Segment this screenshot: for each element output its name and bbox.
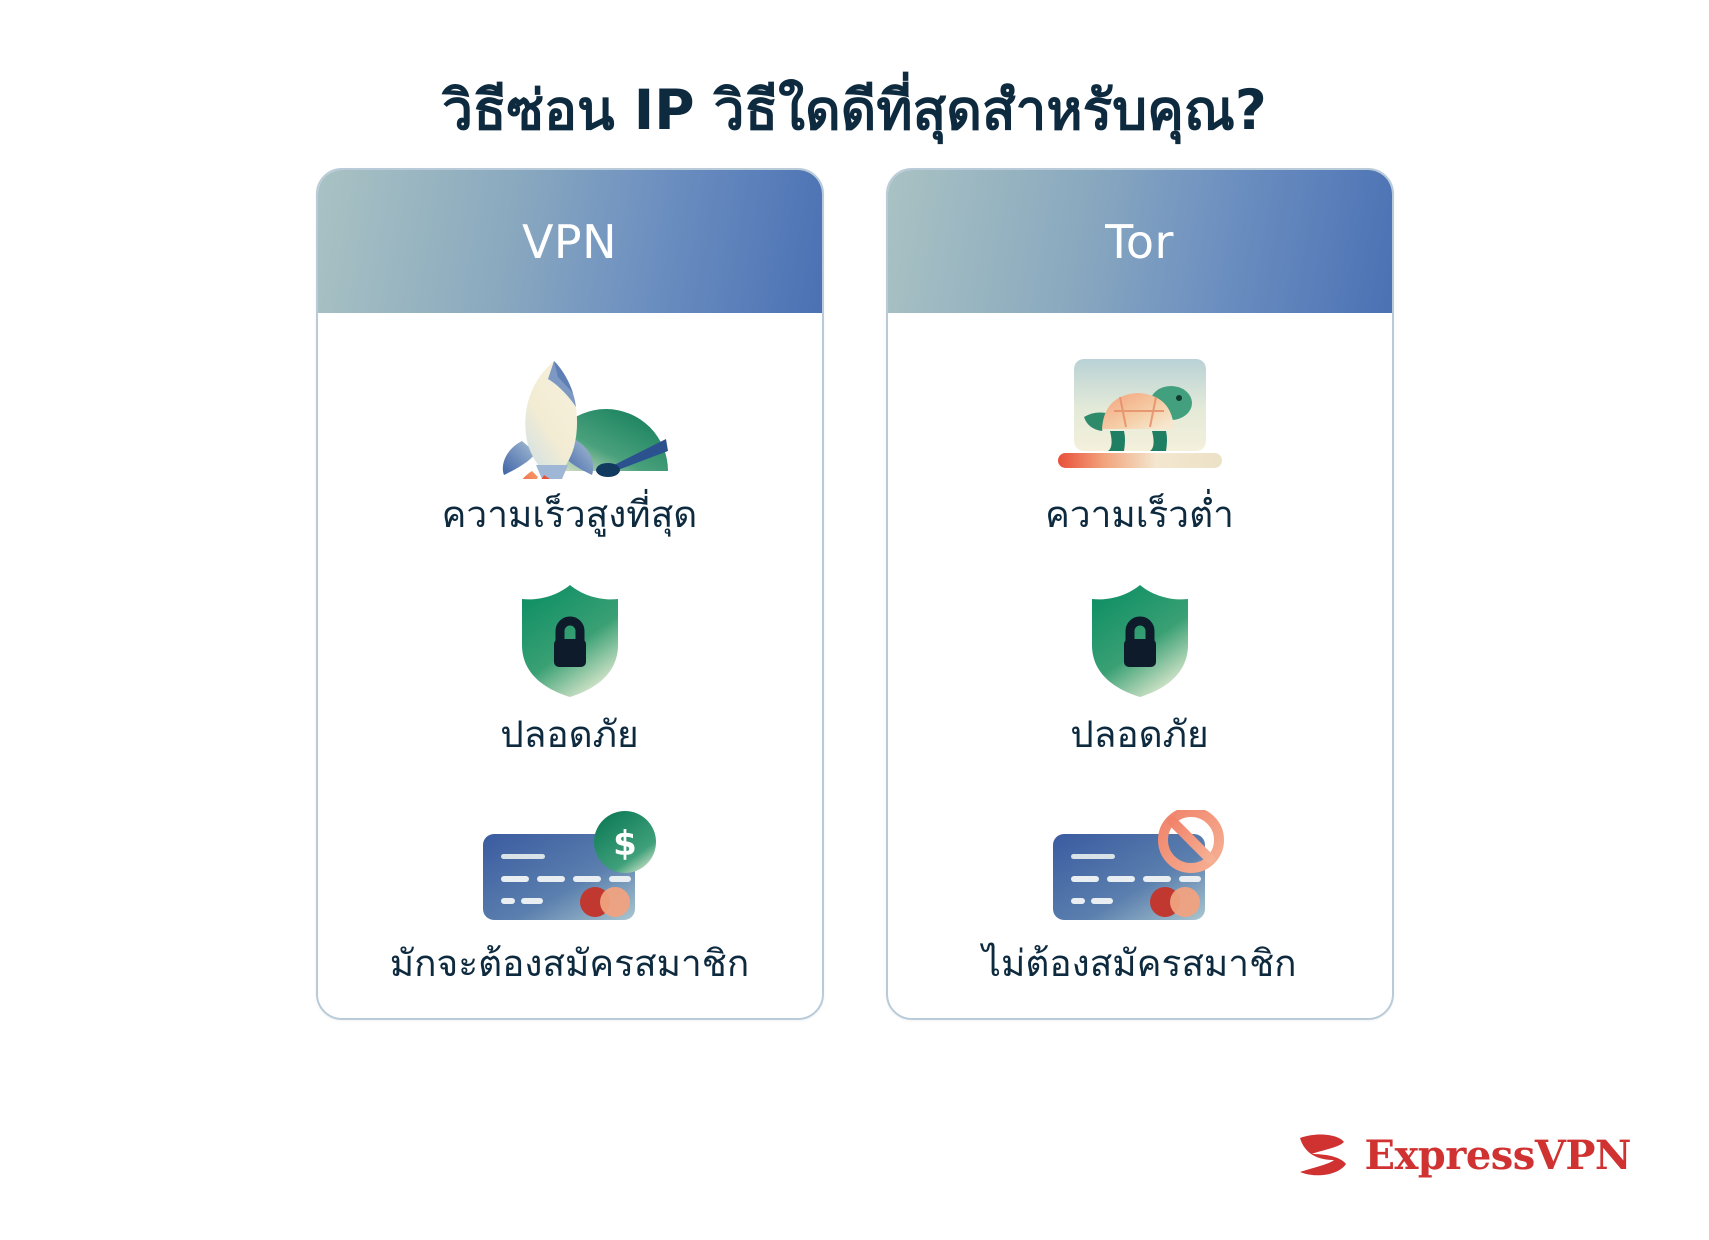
svg-text:$: $ xyxy=(613,824,637,864)
brand-logo: ExpressVPN xyxy=(1294,1130,1631,1180)
shield-lock-icon xyxy=(516,583,624,699)
page-title: วิธีซ่อน IP วิธีใดดีที่สุดสำหรับคุณ? xyxy=(0,79,1709,142)
feature-vpn-secure-label: ปลอดภัย xyxy=(500,713,638,757)
feature-vpn-speed: ความเร็วสูงที่สุด xyxy=(318,345,822,537)
feature-tor-secure-label: ปลอดภัย xyxy=(1070,713,1208,757)
shield-lock-icon-wrap-tor xyxy=(1086,565,1194,699)
feature-vpn-subscription-label: มักจะต้องสมัครสมาชิก xyxy=(390,942,750,986)
card-vpn: VPN xyxy=(316,168,824,1020)
rocket-speedometer-icon xyxy=(470,353,670,479)
credit-card-dollar-icon: $ xyxy=(475,810,665,928)
feature-tor-subscription-label: ไม่ต้องสมัครสมาชิก xyxy=(982,942,1296,986)
shield-lock-icon-wrap xyxy=(516,565,624,699)
feature-vpn-secure: ปลอดภัย xyxy=(318,565,822,757)
card-tor-title: Tor xyxy=(1105,215,1174,269)
feature-tor-speed: ความเร็วต่ำ xyxy=(888,345,1392,537)
credit-card-blocked-icon-wrap xyxy=(1045,794,1235,928)
turtle-laptop-icon-wrap xyxy=(1040,345,1240,479)
feature-tor-speed-label: ความเร็วต่ำ xyxy=(1045,493,1234,537)
shield-lock-icon xyxy=(1086,583,1194,699)
expressvpn-logo-icon xyxy=(1294,1130,1350,1180)
credit-card-blocked-icon xyxy=(1045,810,1235,928)
card-vpn-body: ความเร็วสูงที่สุด xyxy=(318,313,822,1018)
card-tor-header: Tor xyxy=(888,170,1392,313)
feature-tor-secure: ปลอดภัย xyxy=(888,565,1392,757)
rocket-speedometer-icon-wrap xyxy=(470,345,670,479)
credit-card-dollar-icon-wrap: $ xyxy=(475,794,665,928)
feature-vpn-speed-label: ความเร็วสูงที่สุด xyxy=(442,493,698,537)
feature-tor-subscription: ไม่ต้องสมัครสมาชิก xyxy=(888,794,1392,986)
brand-name: ExpressVPN xyxy=(1364,1132,1631,1179)
card-tor: Tor xyxy=(886,168,1394,1020)
card-tor-body: ความเร็วต่ำ ปลอดภัย xyxy=(888,313,1392,1018)
card-vpn-header: VPN xyxy=(318,170,822,313)
comparison-cards: VPN xyxy=(0,168,1709,1020)
turtle-laptop-icon xyxy=(1040,353,1240,479)
feature-vpn-subscription: $ มักจะต้องสมัครสมาชิก xyxy=(318,794,822,986)
card-vpn-title: VPN xyxy=(522,215,617,269)
